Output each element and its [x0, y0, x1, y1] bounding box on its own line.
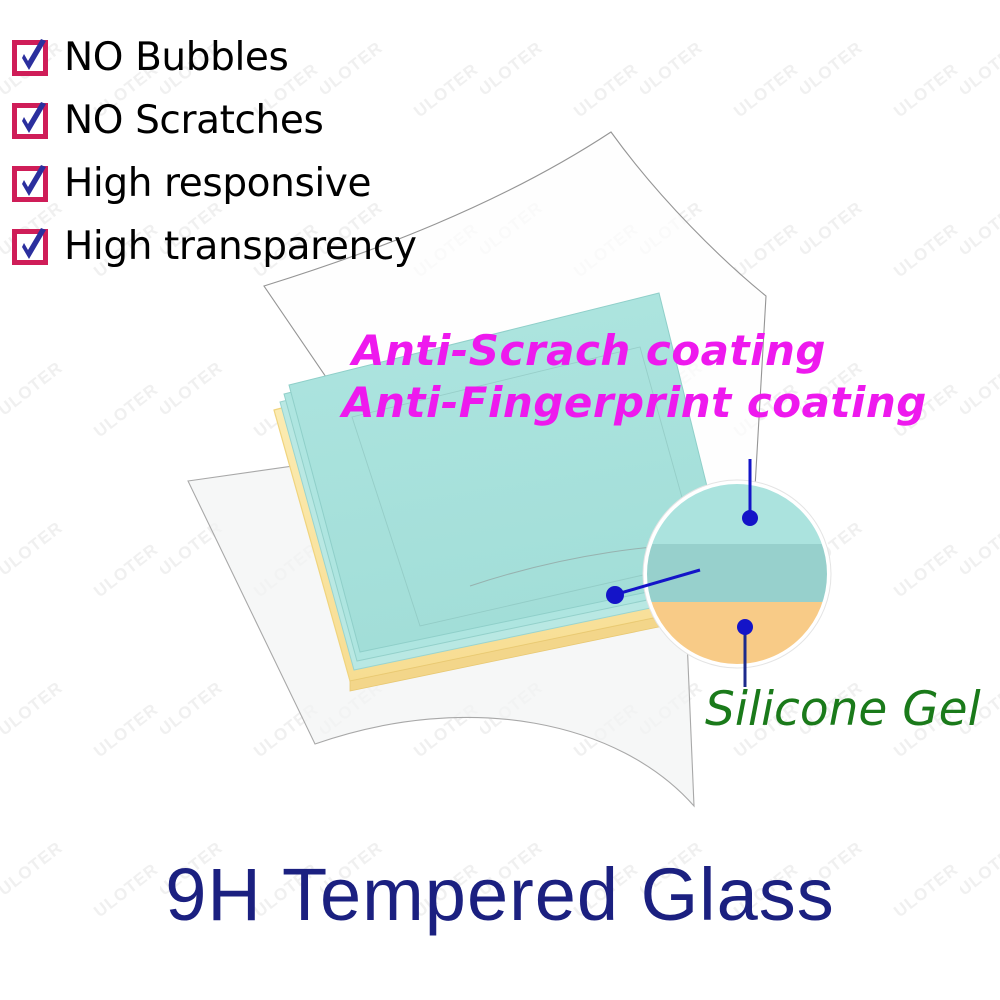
checkbox-checked-icon[interactable] — [12, 166, 48, 202]
feature-checklist: NO Bubbles NO Scratches High responsive — [12, 26, 482, 278]
checkbox-checked-icon[interactable] — [12, 40, 48, 76]
feature-row[interactable]: NO Bubbles — [12, 26, 482, 89]
coating-callout-line-1: Anti-Scrach coating — [352, 325, 927, 377]
coating-callout-line-2: Anti-Fingerprint coating — [342, 377, 927, 429]
feature-label: NO Bubbles — [64, 38, 288, 77]
feature-row[interactable]: High responsive — [12, 152, 482, 215]
page-title: 9H Tempered Glass — [0, 858, 1000, 932]
silicone-gel-callout: Silicone Gel — [705, 686, 981, 733]
feature-row[interactable]: High transparency — [12, 215, 482, 278]
feature-label: NO Scratches — [64, 101, 323, 140]
feature-label: High responsive — [64, 164, 371, 203]
checkbox-checked-icon[interactable] — [12, 229, 48, 265]
coating-callout: Anti-Scrach coating Anti-Fingerprint coa… — [352, 325, 927, 429]
feature-label: High transparency — [64, 227, 417, 266]
feature-row[interactable]: NO Scratches — [12, 89, 482, 152]
checkbox-checked-icon[interactable] — [12, 103, 48, 139]
infographic-canvas: ULOTER ULOTER — [0, 0, 1000, 1000]
